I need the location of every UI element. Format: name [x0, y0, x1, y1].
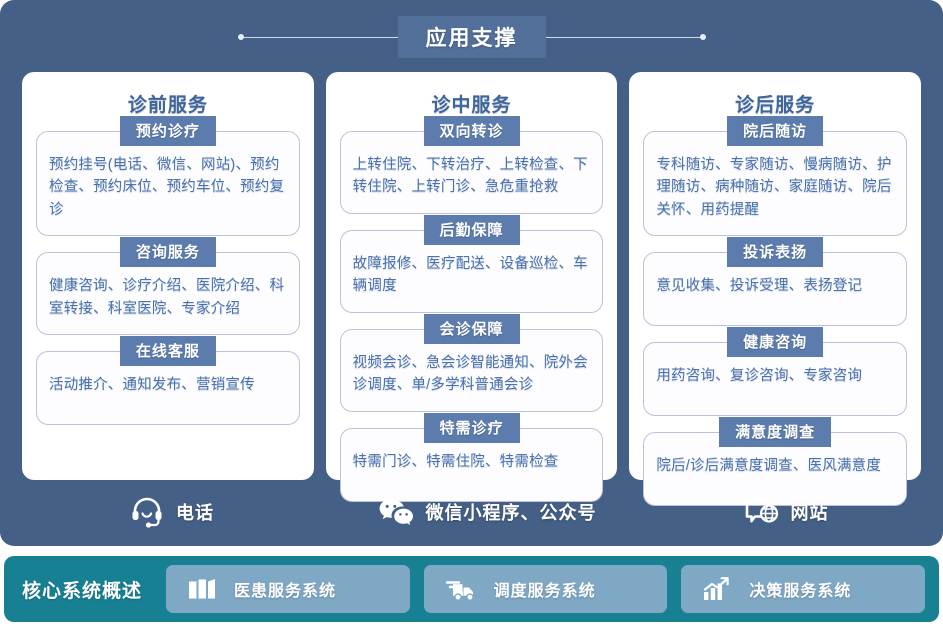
channel-label: 电话: [176, 499, 214, 525]
column-title: 诊后服务: [643, 90, 907, 117]
service-columns: 诊前服务 预约诊疗 预约挂号(电话、微信、网站)、预约检查、预约床位、预约车位、…: [22, 72, 921, 480]
pill-decision-service-system[interactable]: 决策服务系统: [681, 565, 925, 613]
section-text: 用药咨询、复诊咨询、专家咨询: [656, 365, 894, 387]
banner-line-right: [546, 37, 706, 38]
banner-dot-right-icon: [700, 34, 706, 40]
website-icon: [745, 497, 779, 527]
channel-website[interactable]: 网站: [652, 497, 921, 527]
section-badge: 投诉表扬: [727, 237, 823, 267]
section-badge: 会诊保障: [423, 314, 519, 344]
column-title: 诊前服务: [36, 90, 300, 117]
section-consultation-service[interactable]: 咨询服务 健康咨询、诊疗介绍、医院介绍、科室转接、科室医院、专家介绍: [36, 252, 300, 335]
section-badge: 满意度调查: [719, 417, 831, 447]
factory-icon: [186, 575, 218, 603]
infographic-page: 应用支撑 诊前服务 预约诊疗 预约挂号(电话、微信、网站)、预约检查、预约床位、…: [0, 0, 943, 628]
channel-label: 网站: [791, 499, 829, 525]
application-support-panel: 应用支撑 诊前服务 预约诊疗 预约挂号(电话、微信、网站)、预约检查、预约床位、…: [0, 0, 943, 546]
section-text: 健康咨询、诊疗介绍、医院介绍、科室转接、科室医院、专家介绍: [49, 275, 287, 320]
section-text: 专科随访、专家随访、慢病随访、护理随访、病种随访、家庭随访、院后关怀、用药提醒: [656, 154, 894, 221]
section-text: 意见收集、投诉受理、表扬登记: [656, 275, 894, 297]
pill-patient-service-system[interactable]: 医患服务系统: [166, 565, 410, 613]
section-consultation-support[interactable]: 会诊保障 视频会诊、急会诊智能通知、院外会诊调度、单/多学科普通会诊: [340, 329, 604, 412]
banner-row: 应用支撑: [0, 19, 943, 55]
section-badge: 后勤保障: [423, 215, 519, 245]
section-badge: 院后随访: [727, 116, 823, 146]
section-text: 视频会诊、急会诊智能通知、院外会诊调度、单/多学科普通会诊: [353, 352, 591, 397]
section-text: 活动推介、通知发布、营销宣传: [49, 374, 287, 396]
section-complaints-praise[interactable]: 投诉表扬 意见收集、投诉受理、表扬登记: [643, 252, 907, 326]
column-during-visit-services: 诊中服务 双向转诊 上转住院、下转治疗、上转检查、下转住院、上转门诊、急危重抢救…: [326, 72, 618, 480]
wechat-icon: [378, 497, 414, 527]
section-body: 专科随访、专家随访、慢病随访、护理随访、病种随访、家庭随访、院后关怀、用药提醒: [643, 131, 907, 236]
column-pre-visit-services: 诊前服务 预约诊疗 预约挂号(电话、微信、网站)、预约检查、预约床位、预约车位、…: [22, 72, 314, 480]
pill-label: 调度服务系统: [494, 577, 596, 601]
section-two-way-referral[interactable]: 双向转诊 上转住院、下转治疗、上转检查、下转住院、上转门诊、急危重抢救: [340, 131, 604, 214]
banner-dot-left-icon: [238, 34, 244, 40]
chart-growth-icon: [701, 575, 733, 603]
section-text: 故障报修、医疗配送、设备巡检、车辆调度: [353, 253, 591, 298]
section-text: 上转住院、下转治疗、上转检查、下转住院、上转门诊、急危重抢救: [353, 154, 591, 199]
column-post-visit-services: 诊后服务 院后随访 专科随访、专家随访、慢病随访、护理随访、病种随访、家庭随访、…: [629, 72, 921, 480]
section-badge: 预约诊疗: [120, 116, 216, 146]
section-appointment[interactable]: 预约诊疗 预约挂号(电话、微信、网站)、预约检查、预约床位、预约车位、预约复诊: [36, 131, 300, 236]
channel-label: 微信小程序、公众号: [426, 499, 597, 525]
section-online-customer-service[interactable]: 在线客服 活动推介、通知发布、营销宣传: [36, 351, 300, 425]
channel-row: 电话 微信小程序、公众号: [22, 486, 921, 538]
section-badge: 健康咨询: [727, 327, 823, 357]
section-post-discharge-followup[interactable]: 院后随访 专科随访、专家随访、慢病随访、护理随访、病种随访、家庭随访、院后关怀、…: [643, 131, 907, 236]
pill-dispatch-service-system[interactable]: 调度服务系统: [424, 565, 668, 613]
banner-line-left: [238, 37, 398, 38]
section-text: 院后/诊后满意度调查、医风满意度: [656, 455, 894, 477]
core-systems-bar: 核心系统概述 医患服务系统: [4, 556, 939, 622]
pill-label: 医患服务系统: [234, 577, 336, 601]
section-badge: 特需诊疗: [423, 413, 519, 443]
column-title: 诊中服务: [340, 90, 604, 117]
core-systems-title: 核心系统概述: [22, 576, 142, 603]
section-body: 预约挂号(电话、微信、网站)、预约检查、预约床位、预约车位、预约复诊: [36, 131, 300, 236]
section-badge: 双向转诊: [423, 116, 519, 146]
headset-icon: [130, 496, 164, 528]
section-text: 特需门诊、特需住院、特需检查: [353, 451, 591, 473]
section-badge: 在线客服: [120, 336, 216, 366]
section-text: 预约挂号(电话、微信、网站)、预约检查、预约床位、预约车位、预约复诊: [49, 154, 287, 221]
channel-wechat[interactable]: 微信小程序、公众号: [322, 497, 652, 527]
page-title: 应用支撑: [398, 16, 546, 58]
section-badge: 咨询服务: [120, 237, 216, 267]
truck-icon: [444, 575, 478, 603]
channel-phone[interactable]: 电话: [22, 496, 322, 528]
section-health-consultation[interactable]: 健康咨询 用药咨询、复诊咨询、专家咨询: [643, 342, 907, 416]
pill-label: 决策服务系统: [749, 577, 851, 601]
section-logistics-support[interactable]: 后勤保障 故障报修、医疗配送、设备巡检、车辆调度: [340, 230, 604, 313]
